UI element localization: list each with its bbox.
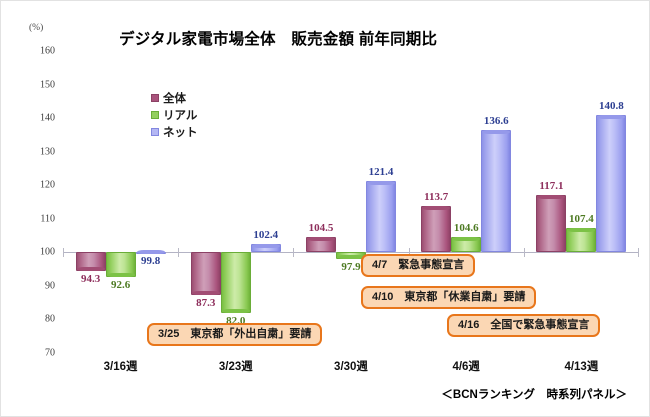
bar[interactable] xyxy=(366,181,396,253)
bar[interactable] xyxy=(251,244,281,252)
y-axis-tick-label: 130 xyxy=(40,146,55,157)
x-axis-label: 3/23週 xyxy=(219,358,253,374)
bar-cap xyxy=(367,181,395,185)
bar-value-label: 92.6 xyxy=(111,279,130,291)
bar-group: 94.392.699.8 xyxy=(76,51,166,353)
bar-value-label: 117.1 xyxy=(539,180,563,192)
bar[interactable] xyxy=(451,237,481,252)
axis-tick-mark xyxy=(178,248,179,257)
y-axis-tick-label: 80 xyxy=(45,314,55,325)
y-axis-tick-label: 70 xyxy=(45,348,55,359)
bar-cap xyxy=(137,250,165,254)
bar-value-label: 87.3 xyxy=(196,297,215,309)
chart-container: (%) デジタル家電市場全体 販売金額 前年同期比 全体 リアル ネット 160… xyxy=(0,0,650,417)
y-axis-tick-label: 150 xyxy=(40,79,55,90)
bar-cap xyxy=(597,115,625,119)
bar-value-label: 104.5 xyxy=(309,222,334,234)
plot-area: 160150140130120110100908070 94.392.699.8… xyxy=(63,51,639,353)
bar[interactable] xyxy=(596,115,626,252)
annotation-callout[interactable]: 3/25 東京都「外出自粛」要請 xyxy=(147,323,322,346)
bar[interactable] xyxy=(421,206,451,252)
axis-tick-mark xyxy=(524,248,525,257)
bar-value-label: 140.8 xyxy=(599,100,624,112)
axis-tick-mark xyxy=(293,248,294,257)
x-axis-label: 3/30週 xyxy=(334,358,368,374)
bar-value-label: 113.7 xyxy=(424,191,448,203)
bar-value-label: 121.4 xyxy=(369,166,394,178)
bar[interactable] xyxy=(221,252,251,312)
axis-tick-mark xyxy=(638,248,639,257)
bar-value-label: 94.3 xyxy=(81,273,100,285)
bar-value-label: 107.4 xyxy=(569,213,594,225)
y-axis-tick-label: 120 xyxy=(40,180,55,191)
bar-cap xyxy=(192,291,220,295)
bar-value-label: 99.8 xyxy=(141,255,160,267)
bar-cap xyxy=(307,237,335,241)
bar-group: 87.382.0102.4 xyxy=(191,51,281,353)
bar-value-label: 104.6 xyxy=(454,222,479,234)
chart-title: デジタル家電市場全体 販売金額 前年同期比 xyxy=(119,27,437,49)
y-axis-tick-label: 100 xyxy=(40,247,55,258)
bar-value-label: 97.9 xyxy=(341,261,360,273)
source-note: ＜BCNランキング 時系列パネル＞ xyxy=(441,386,627,402)
bar-cap xyxy=(77,267,105,271)
bar-cap xyxy=(452,237,480,241)
bar-cap xyxy=(537,195,565,199)
y-axis-tick-label: 160 xyxy=(40,46,55,57)
bar-cap xyxy=(107,273,135,277)
bar-cap xyxy=(222,309,250,313)
y-axis-tick-label: 110 xyxy=(40,213,55,224)
bar-cap xyxy=(567,228,595,232)
bar-value-label: 136.6 xyxy=(484,115,509,127)
annotation-callout[interactable]: 4/16 全国で緊急事態宣言 xyxy=(447,314,600,337)
bar-value-label: 102.4 xyxy=(253,229,278,241)
x-axis-label: 4/13週 xyxy=(564,358,598,374)
y-axis-unit-label: (%) xyxy=(29,23,43,33)
bar[interactable] xyxy=(536,195,566,252)
bar-cap xyxy=(422,206,450,210)
axis-tick-mark xyxy=(63,248,64,257)
bar[interactable] xyxy=(76,252,106,271)
x-axis-label: 4/6週 xyxy=(452,358,480,374)
bar[interactable] xyxy=(481,130,511,253)
x-axis-label: 3/16週 xyxy=(104,358,138,374)
annotation-callout[interactable]: 4/7 緊急事態宣言 xyxy=(361,254,475,277)
y-axis-tick-label: 140 xyxy=(40,113,55,124)
y-axis-tick-label: 90 xyxy=(45,280,55,291)
bar-group: 117.1107.4140.8 xyxy=(536,51,626,353)
bar-cap xyxy=(482,130,510,134)
bar[interactable] xyxy=(306,237,336,252)
bar-cap xyxy=(252,244,280,248)
bar[interactable] xyxy=(191,252,221,295)
bar[interactable] xyxy=(566,228,596,253)
bar[interactable] xyxy=(106,252,136,277)
annotation-callout[interactable]: 4/10 東京都「休業自粛」要請 xyxy=(361,286,536,309)
